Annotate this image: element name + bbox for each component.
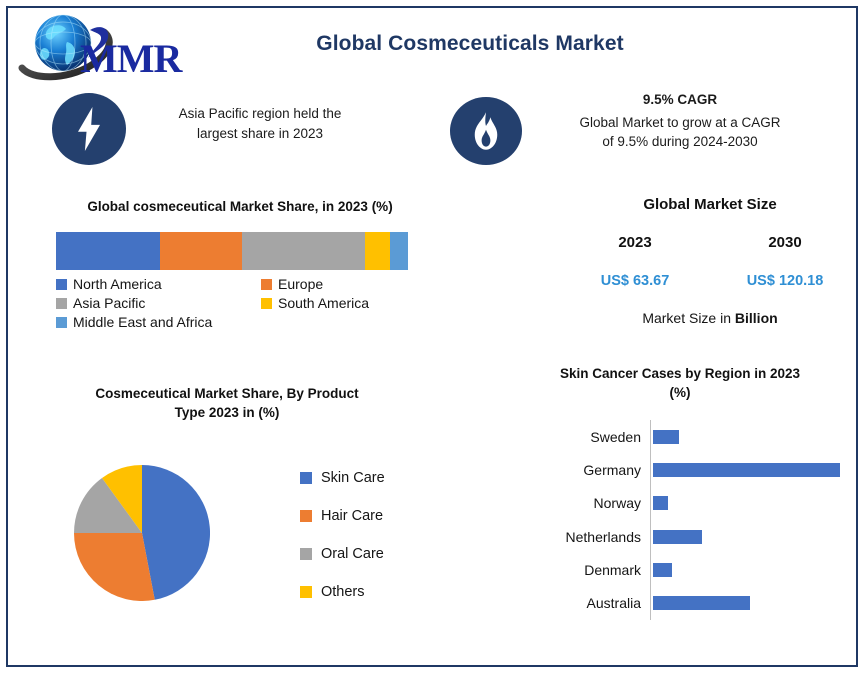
bar-fill <box>653 596 750 610</box>
region-share-legend: North America Europe Asia Pacific South … <box>56 276 466 333</box>
bar-row-sweden: Sweden <box>520 420 840 453</box>
svg-text:MMR: MMR <box>80 36 184 81</box>
stack-segment-asia-pacific <box>242 232 365 270</box>
legend-swatch-icon <box>56 298 67 309</box>
bar-label: Sweden <box>520 429 650 445</box>
bar-fill <box>653 530 702 544</box>
mmr-logo: MMR <box>18 10 198 85</box>
bar-label: Netherlands <box>520 529 650 545</box>
market-size-value-2030: US$ 120.18 <box>710 272 860 290</box>
legend-swatch-icon <box>56 317 67 328</box>
legend-swatch-icon <box>261 279 272 290</box>
legend-swatch-icon <box>56 279 67 290</box>
market-size-value: US$ 63.67 <box>601 273 670 289</box>
pie-slice-hair-care <box>74 533 155 601</box>
legend-item-middle-east-and-africa: Middle East and Africa <box>56 314 466 330</box>
market-size-unit-note: Market Size in Billion <box>560 310 860 326</box>
bar-row-norway: Norway <box>520 487 840 520</box>
bar-fill <box>653 463 840 477</box>
bar-label: Norway <box>520 495 650 511</box>
bar-row-netherlands: Netherlands <box>520 520 840 553</box>
market-size-note-prefix: Market Size in <box>642 310 735 326</box>
bar-track <box>650 453 840 486</box>
bar-label: Germany <box>520 462 650 478</box>
legend-label: Hair Care <box>321 508 383 524</box>
bar-label: Australia <box>520 595 650 611</box>
product-share-title-line2: Type 2023 in (%) <box>175 405 280 420</box>
highlight-cagr: 9.5% CAGR Global Market to grow at a CAG… <box>540 90 820 152</box>
bar-track <box>650 420 840 453</box>
stack-segment-europe <box>160 232 242 270</box>
market-size-years: 2023 2030 <box>560 234 860 252</box>
legend-item-oral-care: Oral Care <box>300 546 385 562</box>
legend-label: Oral Care <box>321 546 384 562</box>
lightning-bolt-icon <box>52 93 126 165</box>
market-size-year: 2023 <box>618 234 651 251</box>
stack-segment-south-america <box>365 232 390 270</box>
market-size-col-2030: 2030 <box>710 234 860 252</box>
legend-row: North America Europe <box>56 276 466 292</box>
legend-label: Others <box>321 584 365 600</box>
skin-cancer-title-line1: Skin Cancer Cases by Region in 2023 <box>560 366 800 381</box>
highlight-1-line2: largest share in 2023 <box>197 126 323 141</box>
bar-row-germany: Germany <box>520 453 840 486</box>
bar-fill <box>653 430 679 444</box>
legend-row: Middle East and Africa <box>56 314 466 330</box>
market-size-value-2023: US$ 63.67 <box>560 272 710 290</box>
legend-label: Skin Care <box>321 470 385 486</box>
highlight-1-line1: Asia Pacific region held the <box>179 106 342 121</box>
market-size-values: US$ 63.67 US$ 120.18 <box>560 272 860 290</box>
legend-item-hair-care: Hair Care <box>300 508 385 524</box>
legend-label: Middle East and Africa <box>73 314 212 330</box>
highlight-2-line2: of 9.5% during 2024-2030 <box>602 134 757 149</box>
skin-cancer-title: Skin Cancer Cases by Region in 2023 (%) <box>510 365 850 403</box>
highlight-2-line1: Global Market to grow at a CAGR <box>579 115 780 130</box>
region-share-stacked-bar <box>56 232 408 270</box>
legend-item-north-america: North America <box>56 276 261 292</box>
legend-label: South America <box>278 295 369 311</box>
bar-track <box>650 553 840 586</box>
legend-swatch-icon <box>300 586 312 598</box>
product-share-pie-chart <box>74 465 210 601</box>
market-size-year: 2030 <box>768 234 801 251</box>
bar-track <box>650 586 840 619</box>
bar-track <box>650 520 840 553</box>
flame-icon <box>450 97 522 165</box>
pie-slice-skin-care <box>142 465 210 600</box>
legend-swatch-icon <box>261 298 272 309</box>
market-size-value: US$ 120.18 <box>747 273 824 289</box>
bar-label: Denmark <box>520 562 650 578</box>
stack-segment-north-america <box>56 232 160 270</box>
region-share-title: Global cosmeceutical Market Share, in 20… <box>40 198 440 217</box>
bar-fill <box>653 563 672 577</box>
legend-swatch-icon <box>300 548 312 560</box>
highlight-asia-pacific: Asia Pacific region held the largest sha… <box>150 104 370 143</box>
bar-row-denmark: Denmark <box>520 553 840 586</box>
legend-item-others: Others <box>300 584 385 600</box>
legend-label: Asia Pacific <box>73 295 145 311</box>
legend-row: Asia Pacific South America <box>56 295 466 311</box>
market-size-col-2023: 2023 <box>560 234 710 252</box>
legend-item-asia-pacific: Asia Pacific <box>56 295 261 311</box>
stack-segment-middle-east-africa <box>390 232 408 270</box>
legend-label: North America <box>73 276 162 292</box>
cagr-headline: 9.5% CAGR <box>540 90 820 110</box>
product-share-title-line1: Cosmeceutical Market Share, By Product <box>95 386 358 401</box>
skin-cancer-title-line2: (%) <box>670 385 691 400</box>
bar-row-australia: Australia <box>520 586 840 619</box>
page-title: Global Cosmeceuticals Market <box>240 32 700 56</box>
legend-item-europe: Europe <box>261 276 466 292</box>
market-size-note-unit: Billion <box>735 310 778 326</box>
legend-item-south-america: South America <box>261 295 466 311</box>
legend-swatch-icon <box>300 510 312 522</box>
infographic-canvas: MMR Global Cosmeceuticals Market Asia Pa… <box>0 0 864 673</box>
legend-swatch-icon <box>300 472 312 484</box>
bar-track <box>650 487 840 520</box>
legend-item-skin-care: Skin Care <box>300 470 385 486</box>
skin-cancer-bar-chart: Sweden Germany Norway Netherlands Denmar… <box>520 420 840 620</box>
legend-label: Europe <box>278 276 323 292</box>
product-share-legend: Skin Care Hair Care Oral Care Others <box>300 470 385 622</box>
market-size-title: Global Market Size <box>560 196 860 213</box>
product-share-title: Cosmeceutical Market Share, By Product T… <box>52 385 402 423</box>
bar-fill <box>653 496 668 510</box>
